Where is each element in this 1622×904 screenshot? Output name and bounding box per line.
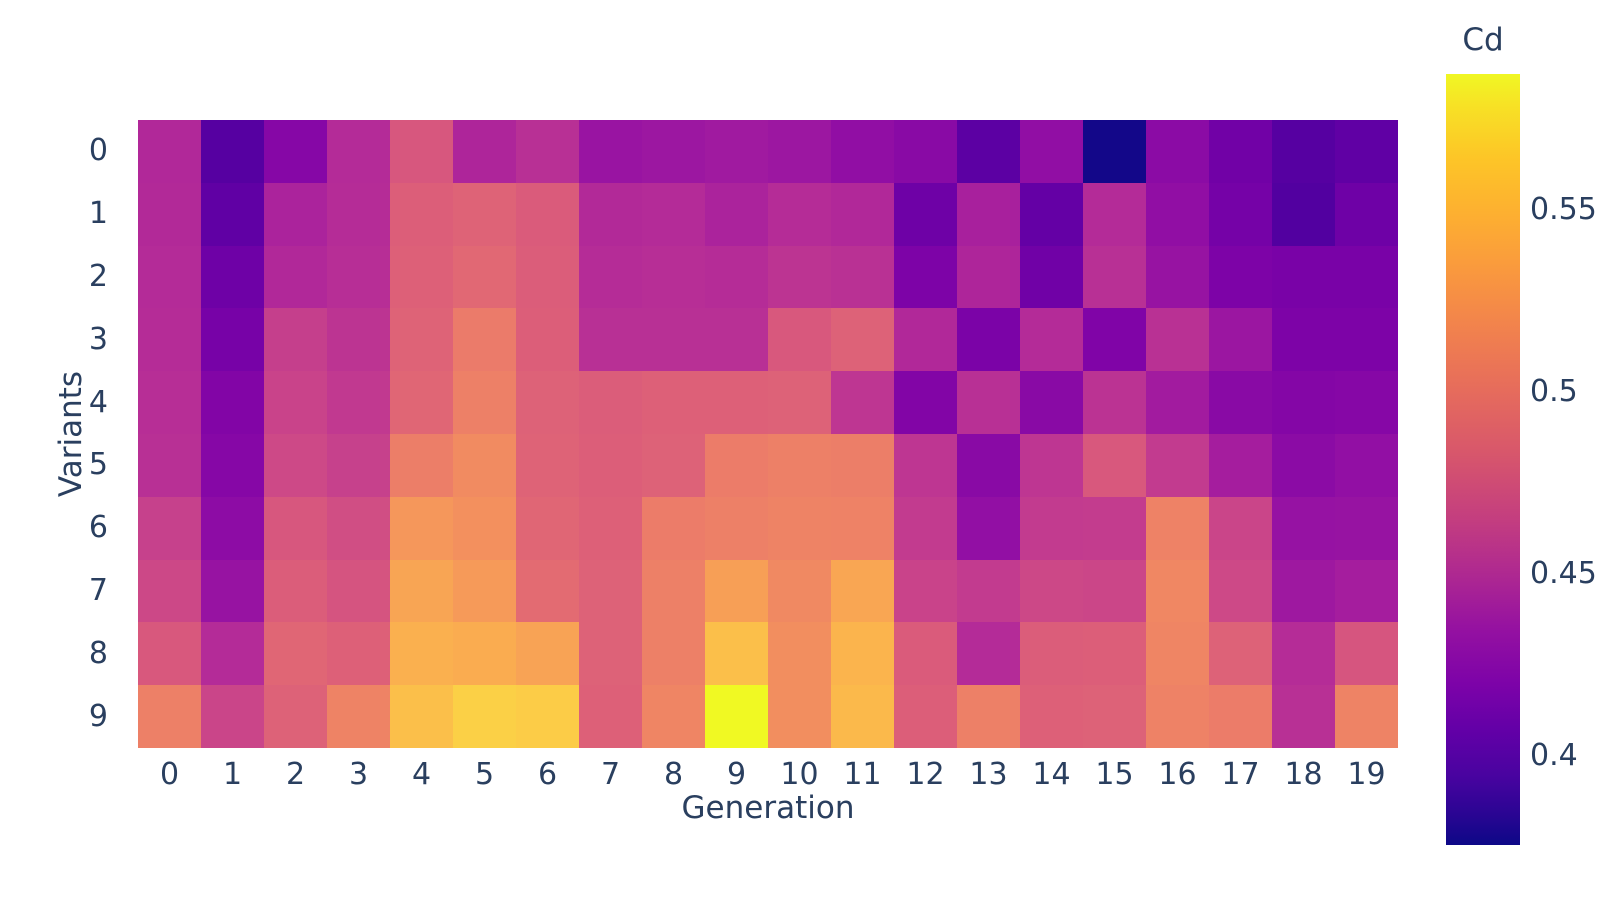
- y-tick-label-4: 4: [60, 371, 122, 434]
- heatmap-cell: [957, 183, 1020, 246]
- heatmap-cell: [1020, 560, 1083, 623]
- heatmap-cell: [642, 371, 705, 434]
- heatmap-cell: [768, 183, 831, 246]
- heatmap-cell: [705, 434, 768, 497]
- heatmap-cell: [579, 560, 642, 623]
- heatmap-cell: [1020, 434, 1083, 497]
- heatmap-cell: [579, 308, 642, 371]
- heatmap-cell: [1335, 371, 1398, 434]
- heatmap-cell: [1272, 622, 1335, 685]
- y-axis-tick-labels: 0123456789: [60, 120, 122, 748]
- heatmap-cell: [768, 371, 831, 434]
- heatmap-cell: [201, 246, 264, 309]
- colorbar-tick-label-0.5: 0.5: [1530, 377, 1578, 407]
- heatmap-cell: [1020, 685, 1083, 748]
- heatmap-cell: [1020, 183, 1083, 246]
- colorbar-title: Cd: [1446, 22, 1520, 58]
- heatmap-cell: [390, 685, 453, 748]
- heatmap-cell: [768, 497, 831, 560]
- heatmap-cell: [1335, 183, 1398, 246]
- heatmap-cell: [1272, 308, 1335, 371]
- heatmap-cell: [453, 183, 516, 246]
- heatmap-cell: [768, 246, 831, 309]
- heatmap-cell: [516, 622, 579, 685]
- heatmap-cell: [138, 622, 201, 685]
- heatmap-cell: [579, 371, 642, 434]
- heatmap-cell: [1083, 183, 1146, 246]
- heatmap-cell: [894, 560, 957, 623]
- x-axis-title: Generation: [138, 790, 1398, 826]
- heatmap-cell: [1083, 246, 1146, 309]
- heatmap-cell: [1335, 246, 1398, 309]
- heatmap-cell: [1020, 622, 1083, 685]
- heatmap-cell: [1209, 560, 1272, 623]
- heatmap-cell: [138, 308, 201, 371]
- heatmap-cell: [327, 308, 390, 371]
- heatmap-cell: [516, 560, 579, 623]
- heatmap-cell: [831, 120, 894, 183]
- heatmap-cell: [1083, 560, 1146, 623]
- heatmap-cell: [1146, 622, 1209, 685]
- heatmap-cell: [1335, 685, 1398, 748]
- heatmap-cell: [642, 434, 705, 497]
- heatmap-cell: [579, 246, 642, 309]
- y-tick-label-9: 9: [60, 685, 122, 748]
- heatmap-cell: [1335, 308, 1398, 371]
- heatmap-cell: [264, 371, 327, 434]
- heatmap-cell: [705, 622, 768, 685]
- heatmap-cell: [1272, 120, 1335, 183]
- heatmap-cell: [1083, 622, 1146, 685]
- heatmap-cell: [201, 371, 264, 434]
- heatmap-cell: [579, 685, 642, 748]
- colorbar: [1446, 74, 1520, 845]
- heatmap-cell: [327, 120, 390, 183]
- heatmap-cell: [453, 308, 516, 371]
- heatmap-cell: [516, 685, 579, 748]
- heatmap-cell: [1020, 246, 1083, 309]
- heatmap-cell: [1209, 685, 1272, 748]
- heatmap-cell: [894, 308, 957, 371]
- heatmap-cell: [1146, 371, 1209, 434]
- heatmap-cell: [768, 308, 831, 371]
- heatmap-cell: [138, 246, 201, 309]
- heatmap-cell: [1272, 497, 1335, 560]
- heatmap-cell: [264, 560, 327, 623]
- heatmap-cell: [957, 622, 1020, 685]
- heatmap-cell: [642, 183, 705, 246]
- heatmap-cell: [705, 560, 768, 623]
- heatmap-cell: [453, 120, 516, 183]
- heatmap-cell: [327, 622, 390, 685]
- heatmap-cell: [705, 371, 768, 434]
- heatmap-cell: [831, 183, 894, 246]
- heatmap-cell: [768, 560, 831, 623]
- heatmap-cell: [453, 560, 516, 623]
- heatmap-cell: [642, 308, 705, 371]
- heatmap-cell: [831, 560, 894, 623]
- heatmap-cell: [264, 622, 327, 685]
- heatmap-cell: [1335, 497, 1398, 560]
- heatmap-cell: [1209, 371, 1272, 434]
- heatmap-cell: [1272, 560, 1335, 623]
- heatmap-cell: [327, 183, 390, 246]
- heatmap-cell: [768, 622, 831, 685]
- heatmap-cell: [138, 120, 201, 183]
- heatmap-cell: [1146, 434, 1209, 497]
- heatmap-cell: [705, 497, 768, 560]
- heatmap-cell: [1020, 371, 1083, 434]
- heatmap-cell: [1146, 246, 1209, 309]
- heatmap-cell: [390, 371, 453, 434]
- heatmap-cell: [1146, 685, 1209, 748]
- heatmap-cell: [1083, 120, 1146, 183]
- heatmap-cell: [831, 308, 894, 371]
- heatmap-cell: [1146, 183, 1209, 246]
- heatmap-cell: [705, 183, 768, 246]
- heatmap-cell: [1146, 497, 1209, 560]
- heatmap-cell: [1272, 246, 1335, 309]
- heatmap-cell: [327, 685, 390, 748]
- heatmap-cell: [1335, 560, 1398, 623]
- heatmap-cell: [579, 622, 642, 685]
- heatmap-cell: [579, 120, 642, 183]
- y-tick-label-3: 3: [60, 308, 122, 371]
- heatmap-cell: [453, 246, 516, 309]
- heatmap-cell: [957, 560, 1020, 623]
- heatmap-cell: [264, 183, 327, 246]
- heatmap-cell: [1272, 434, 1335, 497]
- heatmap-cell: [453, 434, 516, 497]
- heatmap-cell: [138, 685, 201, 748]
- heatmap-cell: [453, 371, 516, 434]
- heatmap-cell: [201, 560, 264, 623]
- y-tick-label-7: 7: [60, 560, 122, 623]
- heatmap-cell: [516, 183, 579, 246]
- heatmap-cell: [642, 622, 705, 685]
- heatmap-cell: [705, 685, 768, 748]
- heatmap-cell: [768, 685, 831, 748]
- colorbar-tick-label-0.45: 0.45: [1530, 559, 1597, 589]
- heatmap-cell: [264, 497, 327, 560]
- heatmap-cell: [642, 560, 705, 623]
- heatmap-cell: [1272, 183, 1335, 246]
- heatmap-cell: [894, 183, 957, 246]
- heatmap-cell: [138, 371, 201, 434]
- heatmap-cell: [453, 622, 516, 685]
- heatmap-cell: [1209, 622, 1272, 685]
- heatmap-cell: [390, 246, 453, 309]
- heatmap-cell: [768, 120, 831, 183]
- heatmap-cell: [894, 685, 957, 748]
- heatmap-cell: [516, 434, 579, 497]
- heatmap-cell: [1272, 685, 1335, 748]
- heatmap-cell: [201, 685, 264, 748]
- heatmap-cell: [831, 685, 894, 748]
- heatmap-figure: Variants 0123456789 01234567891011121314…: [0, 0, 1622, 904]
- heatmap-cell: [264, 434, 327, 497]
- heatmap-cell: [453, 497, 516, 560]
- heatmap-cell: [516, 308, 579, 371]
- heatmap-cell: [1272, 371, 1335, 434]
- heatmap-cell: [957, 434, 1020, 497]
- heatmap-cell: [894, 120, 957, 183]
- heatmap-cell: [264, 246, 327, 309]
- heatmap-cell: [957, 246, 1020, 309]
- heatmap-cell: [264, 120, 327, 183]
- heatmap-cell: [327, 434, 390, 497]
- heatmap-cell: [1335, 434, 1398, 497]
- heatmap-cell: [1209, 246, 1272, 309]
- heatmap-cell: [201, 308, 264, 371]
- heatmap-cell: [516, 497, 579, 560]
- heatmap-cell: [453, 685, 516, 748]
- heatmap-cell: [894, 497, 957, 560]
- heatmap-cell: [894, 622, 957, 685]
- heatmap-cell: [390, 183, 453, 246]
- heatmap-cell: [642, 497, 705, 560]
- heatmap-cell: [642, 246, 705, 309]
- heatmap-cell: [642, 120, 705, 183]
- heatmap-cell: [957, 120, 1020, 183]
- heatmap-cell: [1083, 371, 1146, 434]
- heatmap-cell: [327, 246, 390, 309]
- heatmap-cell: [1209, 497, 1272, 560]
- heatmap-cell: [1083, 497, 1146, 560]
- heatmap-cell: [1335, 622, 1398, 685]
- heatmap-cell: [390, 120, 453, 183]
- y-tick-label-5: 5: [60, 434, 122, 497]
- heatmap-cell: [516, 120, 579, 183]
- heatmap-cell: [579, 183, 642, 246]
- heatmap-cell: [957, 497, 1020, 560]
- heatmap-cell: [1083, 434, 1146, 497]
- heatmap-cell: [390, 308, 453, 371]
- heatmap-cell: [390, 434, 453, 497]
- heatmap-cell: [894, 371, 957, 434]
- heatmap-cell: [1083, 308, 1146, 371]
- heatmap-cell: [957, 308, 1020, 371]
- y-tick-label-1: 1: [60, 183, 122, 246]
- heatmap-cell: [1209, 308, 1272, 371]
- heatmap-cell: [1146, 308, 1209, 371]
- heatmap-cell: [705, 120, 768, 183]
- heatmap-cell: [768, 434, 831, 497]
- colorbar-tick-labels: 0.550.50.450.4: [1530, 74, 1622, 845]
- heatmap-cell: [264, 308, 327, 371]
- heatmap-cell: [957, 685, 1020, 748]
- heatmap-plot-area[interactable]: [138, 120, 1398, 748]
- heatmap-cell: [831, 371, 894, 434]
- heatmap-cell: [327, 497, 390, 560]
- heatmap-cell: [831, 434, 894, 497]
- heatmap-cell: [894, 434, 957, 497]
- heatmap-cell: [138, 183, 201, 246]
- colorbar-gradient: [1446, 74, 1520, 845]
- heatmap-cell: [831, 622, 894, 685]
- y-tick-label-8: 8: [60, 622, 122, 685]
- heatmap-cell: [1209, 120, 1272, 183]
- colorbar-tick-label-0.55: 0.55: [1530, 195, 1597, 225]
- heatmap-cell: [1020, 497, 1083, 560]
- heatmap-cell: [201, 622, 264, 685]
- heatmap-cell: [642, 685, 705, 748]
- y-tick-label-2: 2: [60, 246, 122, 309]
- heatmap-cell: [201, 434, 264, 497]
- heatmap-cell: [201, 183, 264, 246]
- heatmap-cell-grid: [138, 120, 1398, 748]
- heatmap-cell: [1146, 560, 1209, 623]
- heatmap-cell: [705, 308, 768, 371]
- heatmap-cell: [327, 560, 390, 623]
- heatmap-cell: [894, 246, 957, 309]
- heatmap-cell: [1209, 434, 1272, 497]
- heatmap-cell: [705, 246, 768, 309]
- y-tick-label-0: 0: [60, 120, 122, 183]
- heatmap-cell: [957, 371, 1020, 434]
- heatmap-cell: [138, 497, 201, 560]
- heatmap-cell: [390, 560, 453, 623]
- heatmap-cell: [1146, 120, 1209, 183]
- heatmap-cell: [1209, 183, 1272, 246]
- heatmap-cell: [1335, 120, 1398, 183]
- heatmap-cell: [138, 434, 201, 497]
- heatmap-cell: [1020, 120, 1083, 183]
- heatmap-cell: [390, 622, 453, 685]
- heatmap-cell: [201, 120, 264, 183]
- heatmap-cell: [579, 434, 642, 497]
- heatmap-cell: [1083, 685, 1146, 748]
- heatmap-cell: [1020, 308, 1083, 371]
- heatmap-cell: [516, 246, 579, 309]
- heatmap-cell: [138, 560, 201, 623]
- heatmap-cell: [201, 497, 264, 560]
- heatmap-cell: [390, 497, 453, 560]
- heatmap-cell: [831, 246, 894, 309]
- heatmap-cell: [327, 371, 390, 434]
- heatmap-cell: [264, 685, 327, 748]
- y-tick-label-6: 6: [60, 497, 122, 560]
- heatmap-cell: [516, 371, 579, 434]
- heatmap-cell: [579, 497, 642, 560]
- colorbar-tick-label-0.4: 0.4: [1530, 741, 1578, 771]
- heatmap-cell: [831, 497, 894, 560]
